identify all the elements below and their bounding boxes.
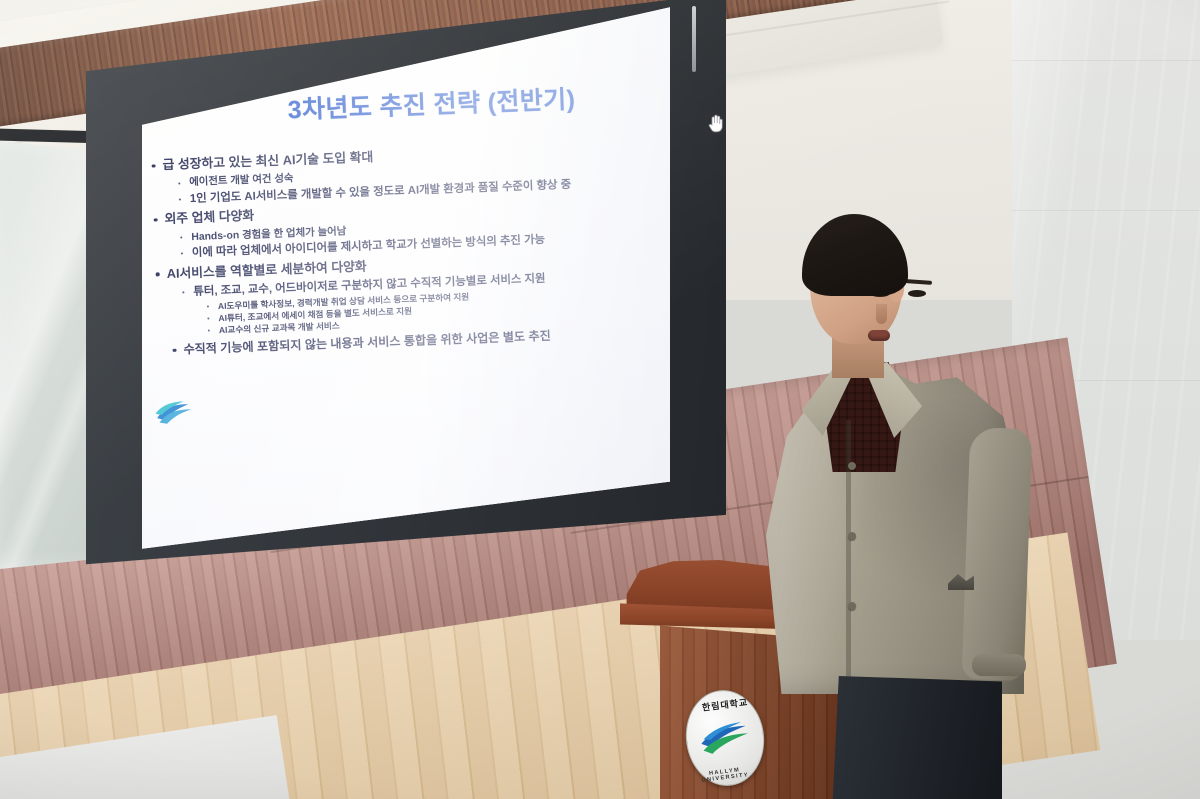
right-wall-joint [1012, 60, 1200, 61]
bullet-text: 급 성장하고 있는 최신 AI기술 도입 확대 [162, 149, 373, 172]
screenshot-root: 3차년도 추진 전략 (전반기) 급 성장하고 있는 최신 AI기술 도입 확대… [0, 0, 1200, 799]
trousers [832, 676, 1002, 799]
bullet-dot-icon [207, 317, 209, 319]
bullet-dot-icon [173, 349, 177, 353]
jacket-cuff [972, 654, 1026, 676]
bullet-dot-icon [182, 291, 184, 293]
mouth [868, 330, 890, 341]
podium-emblem: 한림대학교 HALLYM UNIVERSITY [686, 690, 764, 786]
eyebrow-right [906, 279, 932, 285]
bullet-dot-icon [179, 198, 181, 200]
slide-bullet-list: 급 성장하고 있는 최신 AI기술 도입 확대 에이전트 개발 여건 성숙 1인… [142, 137, 670, 359]
slide-content: 3차년도 추진 전략 (전반기) 급 성장하고 있는 최신 AI기술 도입 확대… [142, 75, 670, 363]
right-arm [962, 427, 1033, 681]
jacket-button [848, 462, 856, 470]
bullet-dot-icon [180, 236, 182, 238]
bullet-dot-icon [152, 164, 156, 168]
bullet-text: 외주 업체 다양화 [164, 208, 254, 226]
bullet-dot-icon [178, 182, 180, 184]
jacket-button [848, 602, 856, 610]
emblem-wave-icon [692, 716, 759, 765]
bullet-dot-icon [156, 273, 160, 277]
right-wall-joint [1012, 210, 1200, 211]
hair [802, 214, 908, 296]
bullet-text: 에이전트 개발 여건 성숙 [189, 174, 294, 189]
speaker-person [760, 214, 1030, 799]
nose [876, 304, 887, 324]
jacket-button [848, 532, 856, 540]
bullet-dot-icon [208, 329, 210, 331]
screen-frame-highlight [692, 6, 696, 72]
hallym-wave-logo-icon [151, 397, 198, 429]
bullet-dot-icon [181, 252, 183, 254]
hand-cursor-icon [707, 113, 725, 133]
eye-right [908, 290, 926, 297]
bullet-dot-icon [154, 218, 158, 222]
jacket-placket [846, 420, 851, 680]
bullet-dot-icon [207, 305, 209, 307]
bullet-text: AI서비스를 역할별로 세분하여 다양화 [166, 258, 366, 280]
